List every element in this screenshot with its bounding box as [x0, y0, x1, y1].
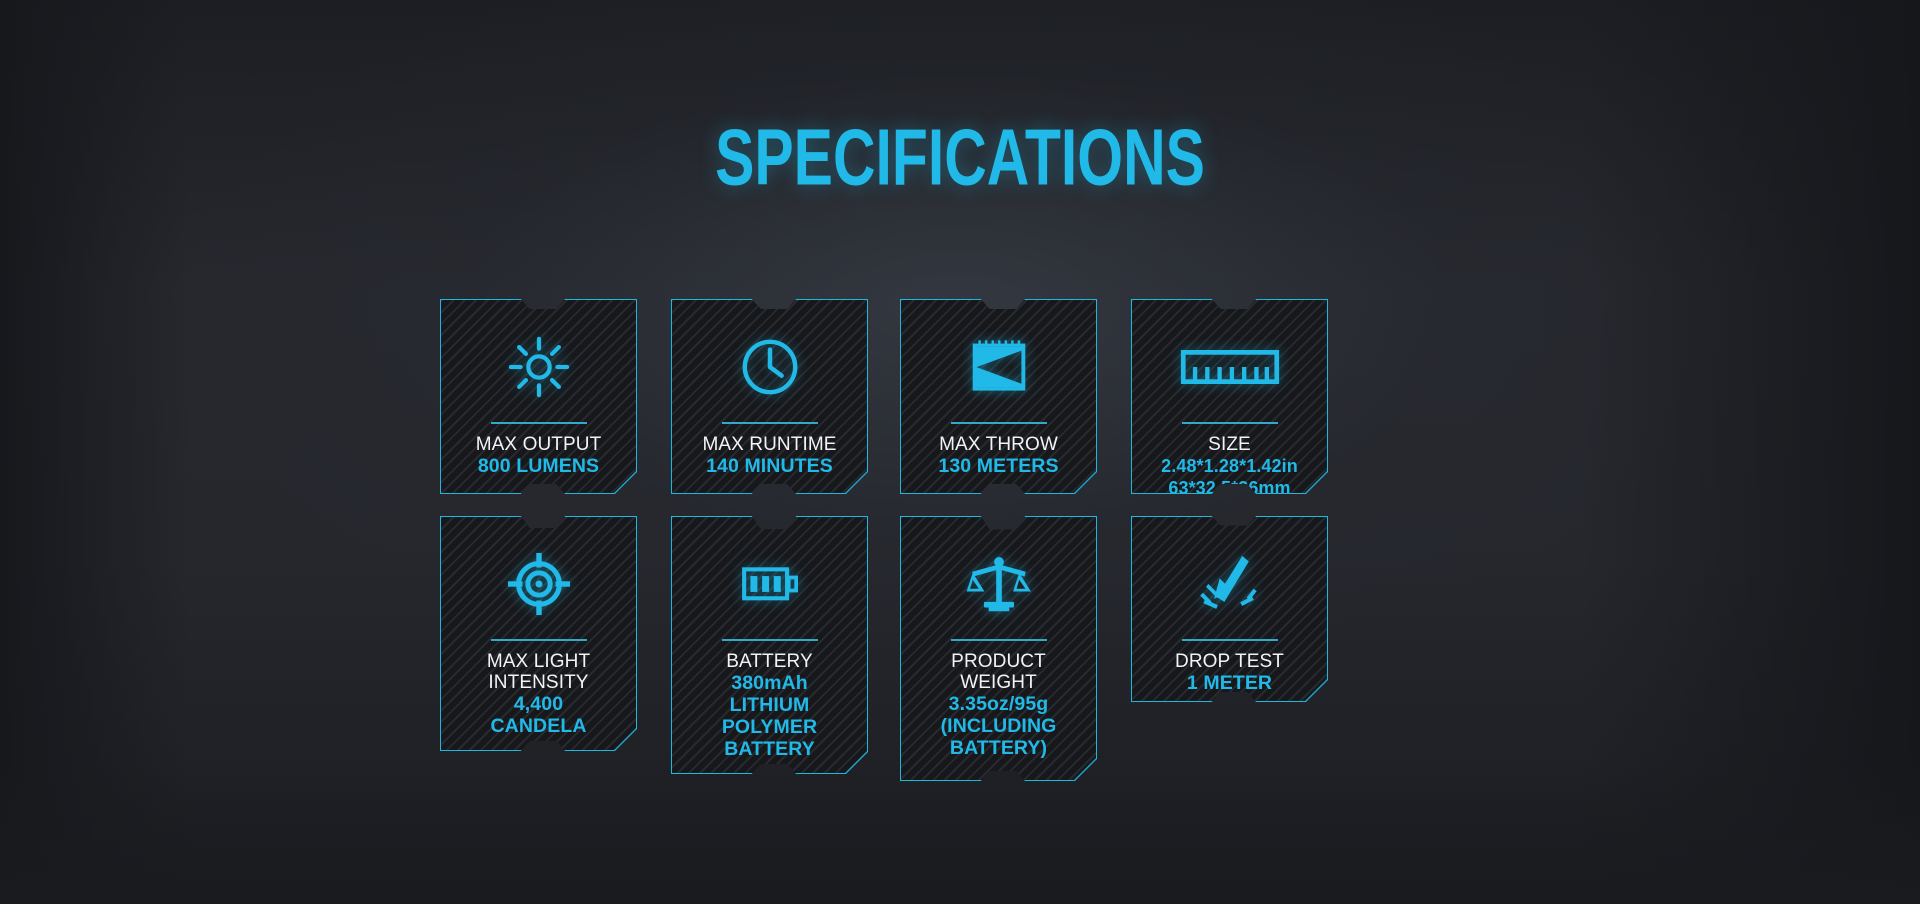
spec-label: MAX RUNTIME [702, 434, 836, 455]
drop-impact-icon [1199, 547, 1261, 621]
spec-value: 380mAh [731, 673, 807, 694]
spec-card: MAX LIGHTINTENSITY4,400CANDELA [440, 516, 637, 751]
spec-card: DROP TEST1 METER [1131, 516, 1328, 702]
battery-icon [742, 547, 798, 621]
spec-card: MAX OUTPUT800 LUMENS [440, 299, 637, 494]
clock-icon [739, 330, 801, 404]
spec-value: (INCLUDING [941, 716, 1057, 737]
ruler-icon [1180, 330, 1280, 404]
spec-card: SIZE2.48*1.28*1.42in63*32.5*36mm [1131, 299, 1328, 494]
spec-value: 140 MINUTES [706, 456, 833, 477]
card-divider [491, 639, 587, 641]
spec-value: LITHIUM [730, 695, 810, 716]
crosshair-icon [507, 547, 571, 621]
spec-value: 63*32.5*36mm [1168, 478, 1290, 495]
card-divider [1182, 422, 1278, 424]
spec-value: BATTERY) [950, 738, 1047, 759]
spec-value: 4,400 [514, 694, 563, 715]
spec-value: POLYMER [722, 717, 817, 738]
background-bottom-shade [0, 764, 1920, 904]
spec-label: INTENSITY [488, 672, 588, 693]
sun-icon [508, 330, 570, 404]
spec-value: 1 METER [1187, 673, 1272, 694]
spec-value: 2.48*1.28*1.42in [1161, 456, 1298, 477]
spec-label: MAX LIGHT [487, 651, 590, 672]
spec-label: DROP TEST [1175, 651, 1284, 672]
spec-label: WEIGHT [960, 672, 1037, 693]
spec-value: 800 LUMENS [478, 456, 599, 477]
card-divider [722, 422, 818, 424]
spec-card: MAX RUNTIME140 MINUTES [671, 299, 868, 494]
card-divider [722, 639, 818, 641]
spec-label: PRODUCT [951, 651, 1046, 672]
spec-label: MAX OUTPUT [476, 434, 602, 455]
page-title-text: SPECIFICATIONS [715, 119, 1205, 198]
spec-label: BATTERY [726, 651, 813, 672]
spec-value: 3.35oz/95g [949, 694, 1049, 715]
scales-icon [966, 547, 1032, 621]
spec-label: SIZE [1208, 434, 1251, 455]
spec-value: BATTERY [724, 739, 815, 760]
spec-card: MAX THROW130 METERS [900, 299, 1097, 494]
spec-card: PRODUCTWEIGHT3.35oz/95g(INCLUDINGBATTERY… [900, 516, 1097, 781]
spec-card: BATTERY380mAhLITHIUMPOLYMERBATTERY [671, 516, 868, 774]
card-divider [1182, 639, 1278, 641]
card-divider [951, 422, 1047, 424]
header: SPECIFICATIONS SPECIFICATIONS [0, 0, 1920, 240]
card-divider [951, 639, 1047, 641]
spec-label: MAX THROW [939, 434, 1058, 455]
spec-value: CANDELA [490, 716, 586, 737]
page-title: SPECIFICATIONS [702, 128, 1218, 190]
spec-value: 130 METERS [938, 456, 1058, 477]
card-divider [491, 422, 587, 424]
beam-throw-icon [968, 330, 1030, 404]
